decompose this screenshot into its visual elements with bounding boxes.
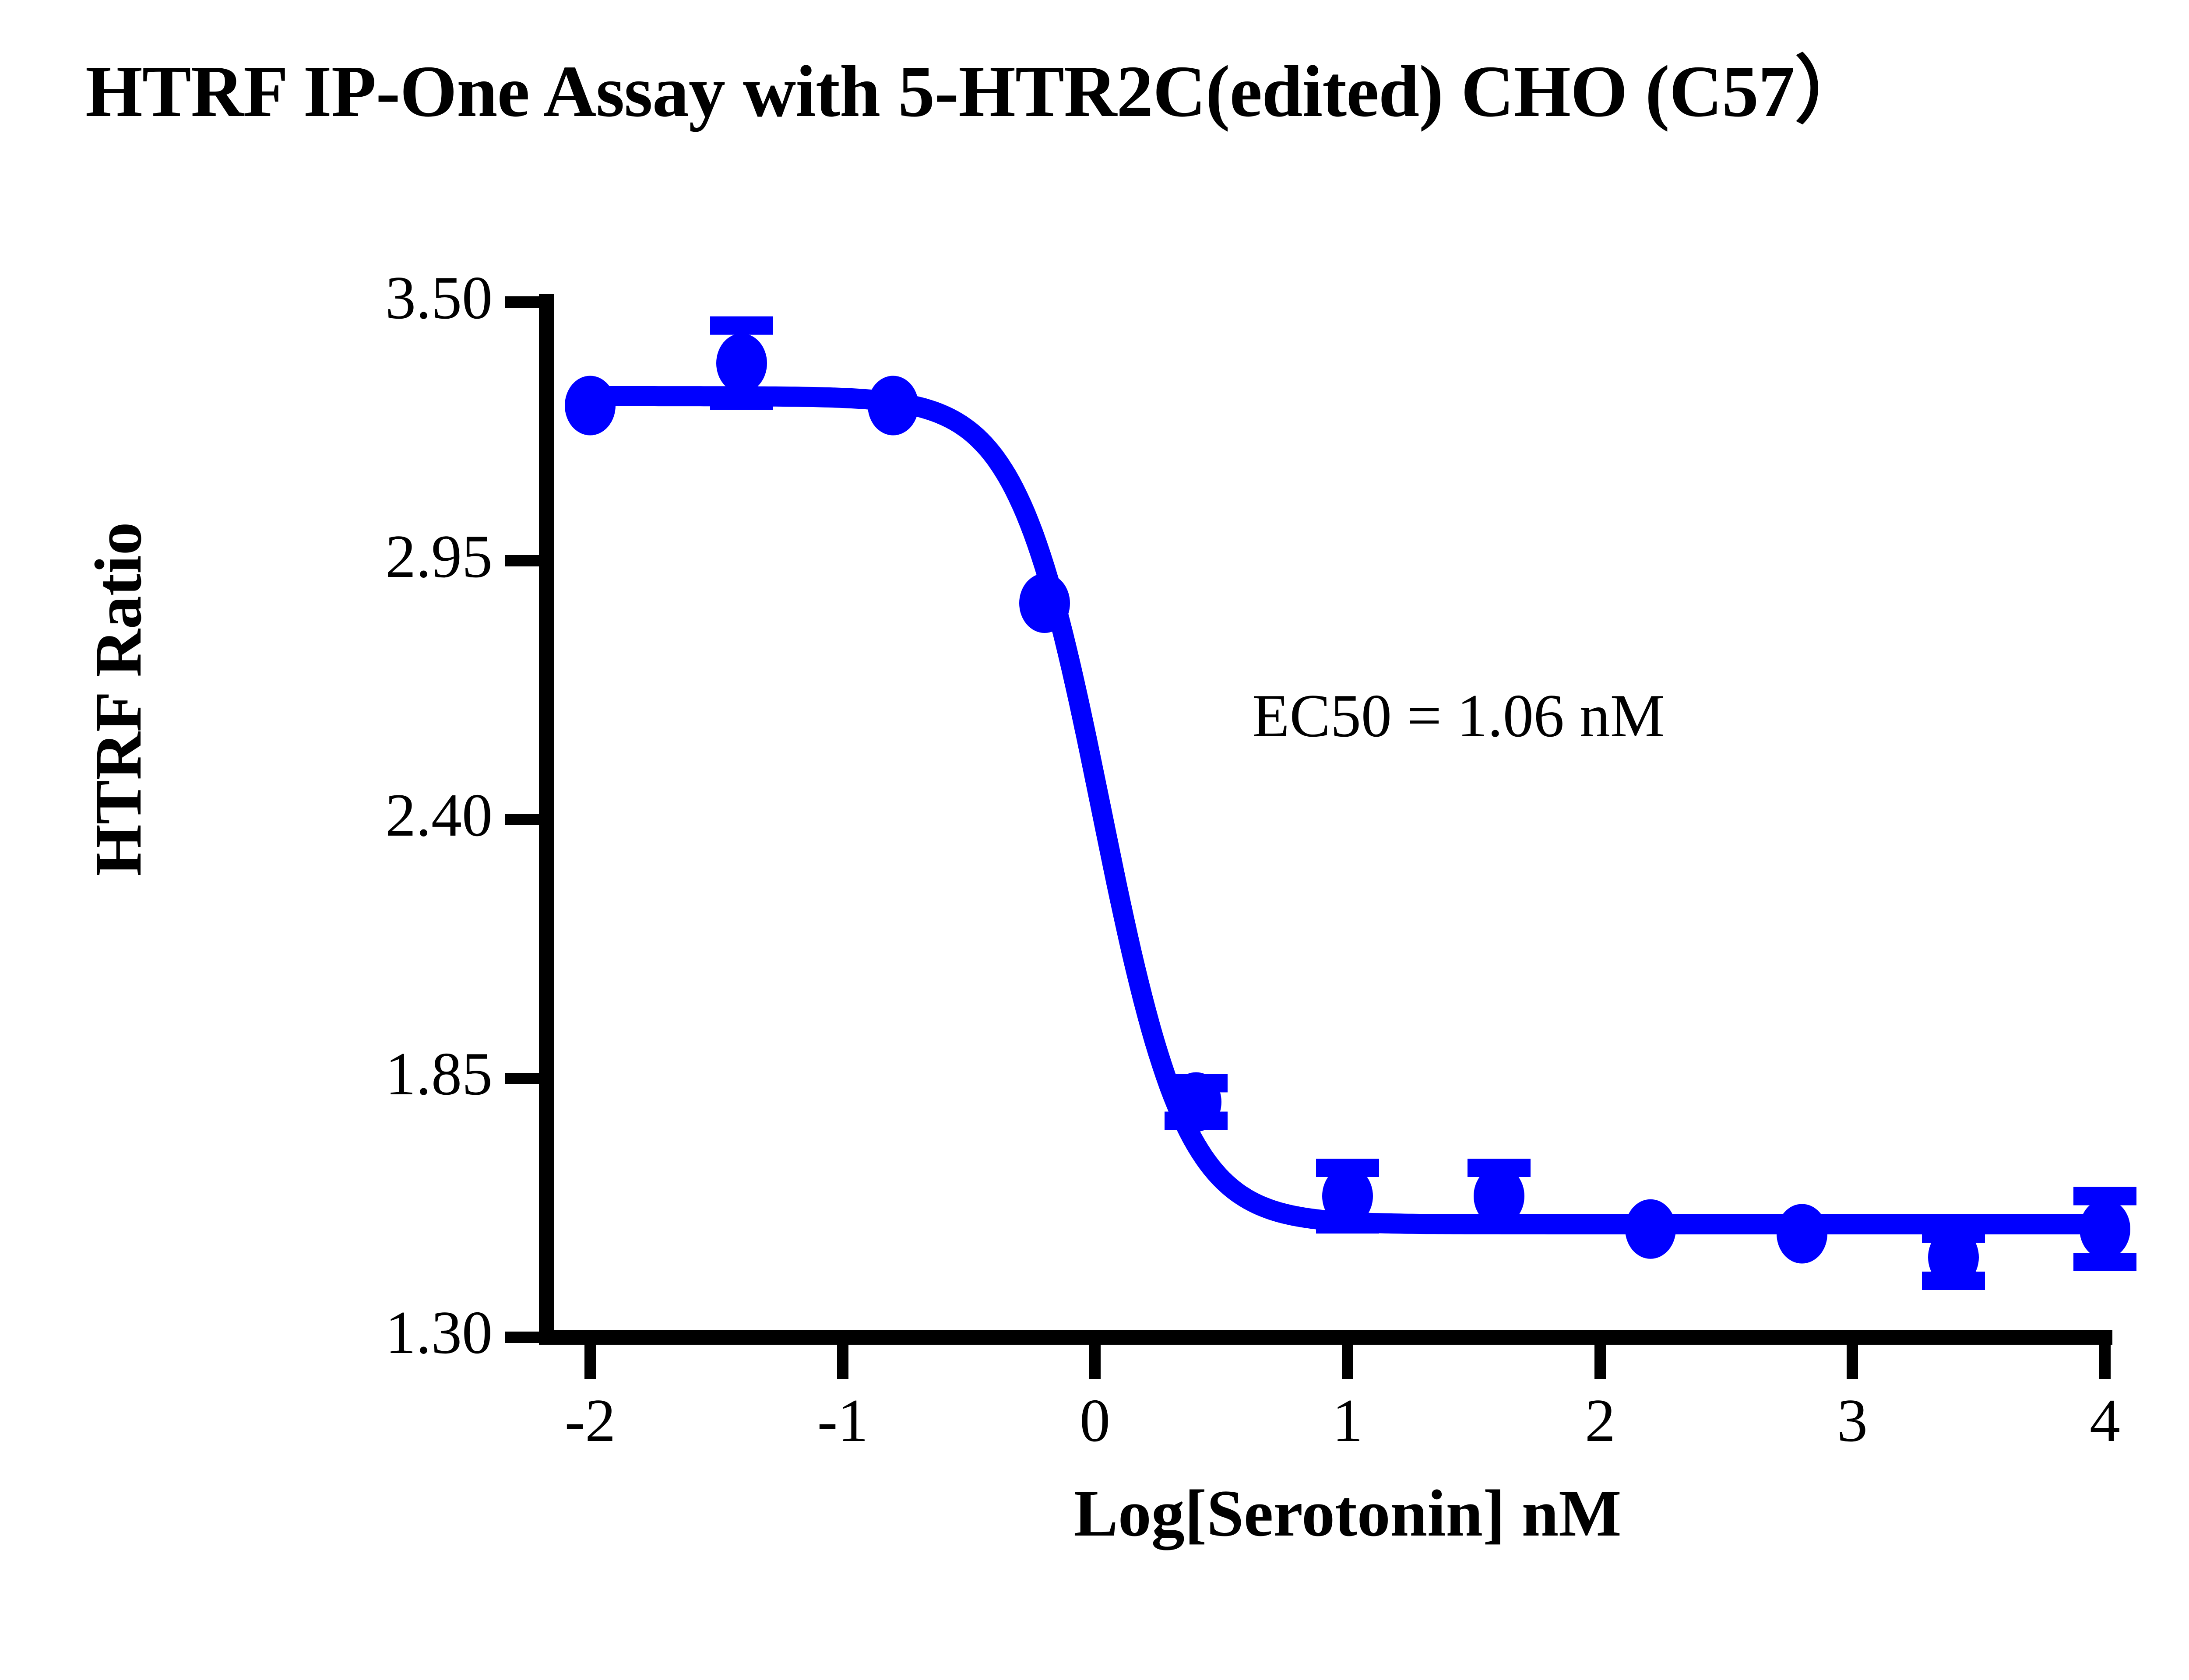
plot-area — [0, 0, 2189, 1680]
data-point — [1171, 1072, 1221, 1132]
data-point — [1928, 1227, 1979, 1287]
error-bars-group — [710, 326, 2136, 1281]
data-point — [1625, 1199, 1676, 1259]
data-markers-group — [565, 334, 2130, 1287]
fit-curve — [590, 396, 2105, 1224]
data-point — [1777, 1204, 1827, 1264]
data-point — [2080, 1199, 2130, 1259]
data-point — [565, 376, 616, 436]
data-point — [1474, 1167, 1524, 1226]
data-point — [1322, 1167, 1373, 1226]
data-point — [868, 376, 919, 436]
data-point — [716, 334, 767, 393]
data-point — [1019, 573, 1070, 633]
figure-canvas: HTRF IP-One Assay with 5-HTR2C(edited) C… — [0, 0, 2189, 1680]
